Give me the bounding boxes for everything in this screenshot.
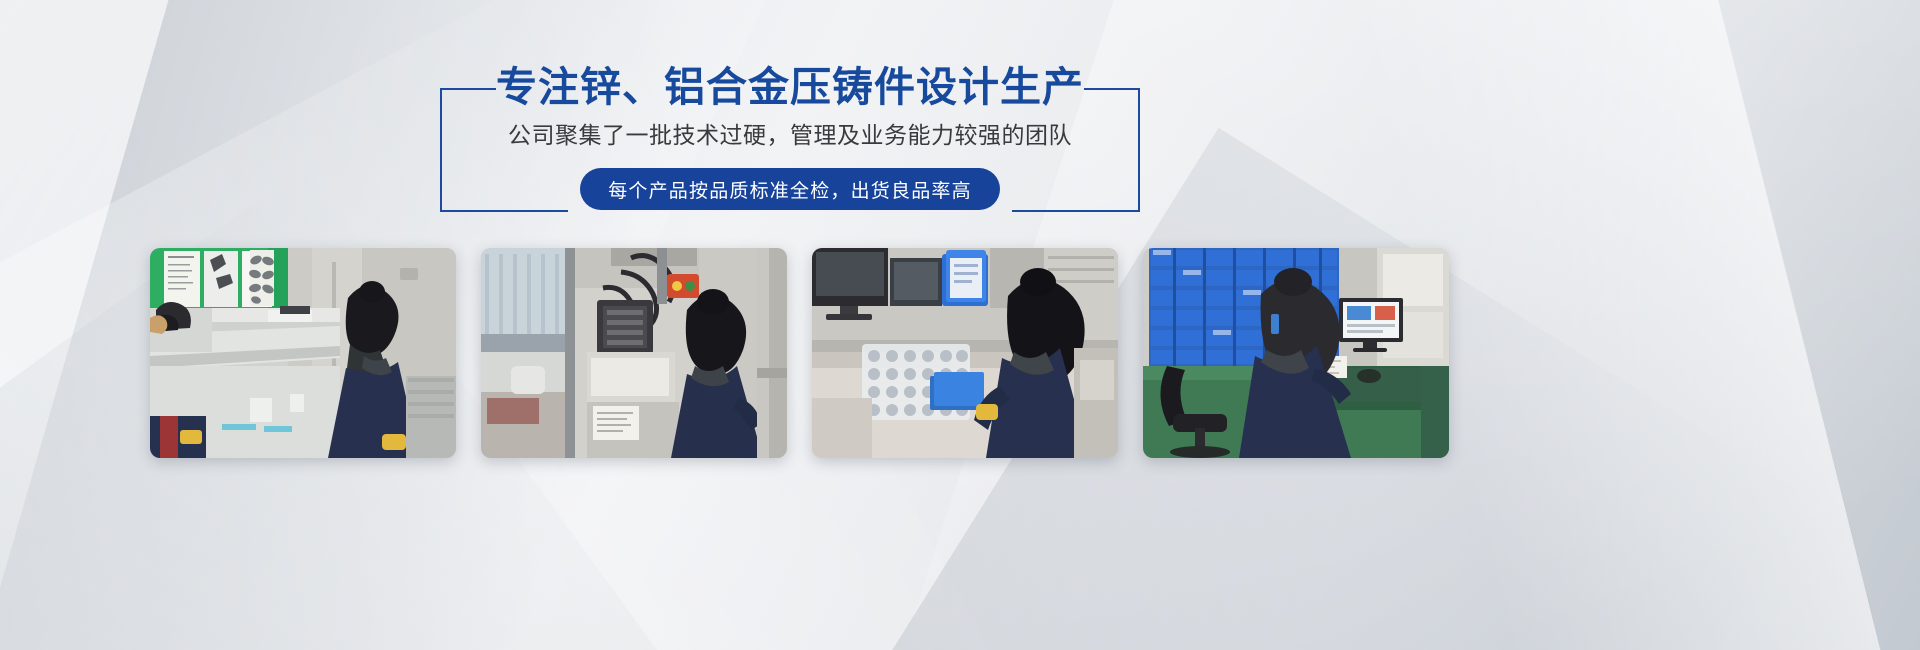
photo-strip xyxy=(150,248,1770,458)
bracket-right-bottom-line xyxy=(1012,210,1140,212)
photo-packing-station xyxy=(812,248,1118,458)
quality-badge: 每个产品按品质标准全检，出货良品率高 xyxy=(580,168,1000,210)
photo-office-workstation xyxy=(1143,248,1449,458)
bracket-left-bottom-line xyxy=(440,210,568,212)
page-subtitle: 公司聚集了一批技术过硬，管理及业务能力较强的团队 xyxy=(440,118,1140,152)
photo-inspection-station xyxy=(150,248,456,458)
page-title: 专注锌、铝合金压铸件设计生产 xyxy=(440,60,1140,114)
promo-banner: 专注锌、铝合金压铸件设计生产 公司聚集了一批技术过硬，管理及业务能力较强的团队 … xyxy=(0,0,1920,650)
photo-die-casting-machine xyxy=(481,248,787,458)
